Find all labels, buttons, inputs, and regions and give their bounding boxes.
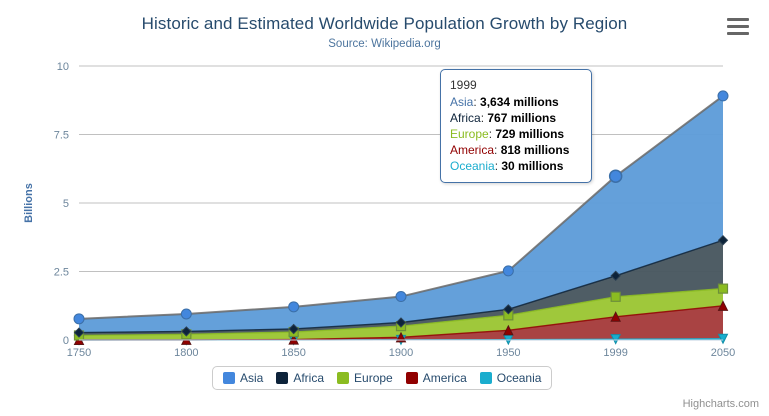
- tooltip-header: 1999: [450, 77, 582, 94]
- highcharts-container: Historic and Estimated Worldwide Populat…: [0, 0, 769, 416]
- tooltip-rows: Asia: 3,634 millionsAfrica: 767 millions…: [450, 94, 582, 174]
- tooltip-row: America: 818 millions: [450, 142, 582, 158]
- legend-item-asia[interactable]: Asia: [223, 371, 263, 385]
- data-point-marker-asia[interactable]: [74, 314, 84, 324]
- x-axis-tick-label: 1950: [496, 347, 520, 359]
- legend-item-label: Oceania: [497, 371, 542, 385]
- hovered-point-marker[interactable]: [610, 170, 622, 182]
- data-point-marker-asia[interactable]: [181, 309, 191, 319]
- y-axis-tick-label: 2.5: [54, 267, 69, 279]
- tooltip-series-value: 767 millions: [487, 111, 556, 125]
- tooltip-row: Africa: 767 millions: [450, 110, 582, 126]
- y-axis-tick-label: 7.5: [54, 130, 69, 142]
- tooltip-separator: :: [494, 143, 501, 157]
- legend-swatch-icon: [406, 372, 418, 384]
- y-axis-title: Billions: [23, 183, 35, 223]
- legend-item-europe[interactable]: Europe: [337, 371, 393, 385]
- tooltip-series-name: Asia: [450, 95, 473, 109]
- y-axis-tick-label: 5: [63, 198, 69, 210]
- chart-legend: AsiaAfricaEuropeAmericaOceania: [212, 366, 552, 390]
- tooltip-series-name: America: [450, 143, 494, 157]
- x-axis-tick-label: 1850: [281, 347, 305, 359]
- x-axis-tick-label: 1750: [67, 347, 91, 359]
- legend-item-label: America: [423, 371, 467, 385]
- y-axis-tick-label: 10: [57, 61, 69, 73]
- x-axis-tick-label: 1900: [389, 347, 413, 359]
- legend-item-label: Europe: [354, 371, 393, 385]
- legend-item-label: Africa: [293, 371, 324, 385]
- chart-plot-area: 02.557.510Billions1750180018501900195019…: [0, 0, 769, 416]
- legend-item-africa[interactable]: Africa: [276, 371, 324, 385]
- tooltip-row: Oceania: 30 millions: [450, 158, 582, 174]
- data-point-marker-europe[interactable]: [611, 292, 620, 301]
- legend-item-oceania[interactable]: Oceania: [480, 371, 542, 385]
- data-point-marker-asia[interactable]: [718, 91, 728, 101]
- tooltip-series-name: Oceania: [450, 159, 495, 173]
- data-point-marker-asia[interactable]: [503, 266, 513, 276]
- tooltip-series-value: 3,634 millions: [480, 95, 559, 109]
- tooltip-row: Asia: 3,634 millions: [450, 94, 582, 110]
- x-axis-tick-label: 2050: [711, 347, 735, 359]
- y-axis-tick-label: 0: [63, 335, 69, 347]
- legend-swatch-icon: [223, 372, 235, 384]
- tooltip-series-value: 729 millions: [495, 127, 564, 141]
- tooltip-series-value: 818 millions: [501, 143, 570, 157]
- tooltip-series-value: 30 millions: [501, 159, 563, 173]
- tooltip-series-name: Europe: [450, 127, 489, 141]
- tooltip-separator: :: [473, 95, 480, 109]
- legend-swatch-icon: [276, 372, 288, 384]
- chart-credits[interactable]: Highcharts.com: [683, 398, 759, 410]
- tooltip-series-name: Africa: [450, 111, 481, 125]
- legend-swatch-icon: [337, 372, 349, 384]
- chart-tooltip: 1999 Asia: 3,634 millionsAfrica: 767 mil…: [440, 69, 592, 183]
- tooltip-row: Europe: 729 millions: [450, 126, 582, 142]
- legend-swatch-icon: [480, 372, 492, 384]
- legend-item-label: Asia: [240, 371, 263, 385]
- x-axis-tick-label: 1999: [603, 347, 627, 359]
- data-point-marker-asia[interactable]: [396, 292, 406, 302]
- data-point-marker-asia[interactable]: [289, 302, 299, 312]
- data-point-marker-europe[interactable]: [719, 284, 728, 293]
- x-axis-tick-label: 1800: [174, 347, 198, 359]
- legend-item-america[interactable]: America: [406, 371, 467, 385]
